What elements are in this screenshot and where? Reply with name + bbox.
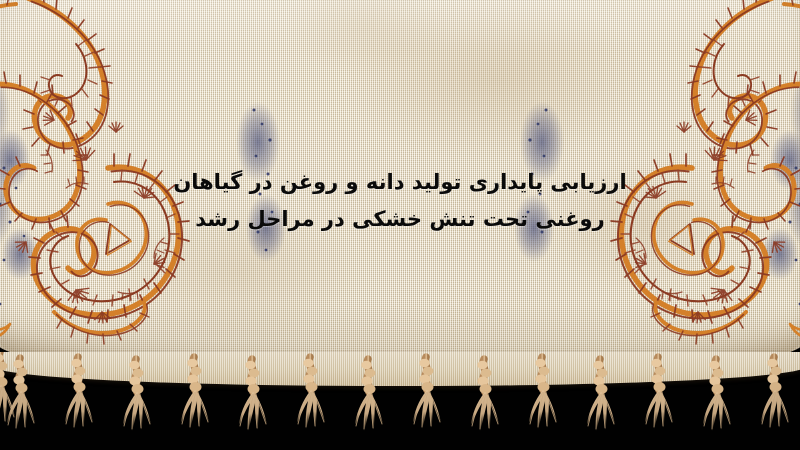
title-slide: ارزیابی پایداری تولید دانه و روغن در گیا… [0, 0, 800, 450]
pateh-cloth [0, 0, 800, 380]
